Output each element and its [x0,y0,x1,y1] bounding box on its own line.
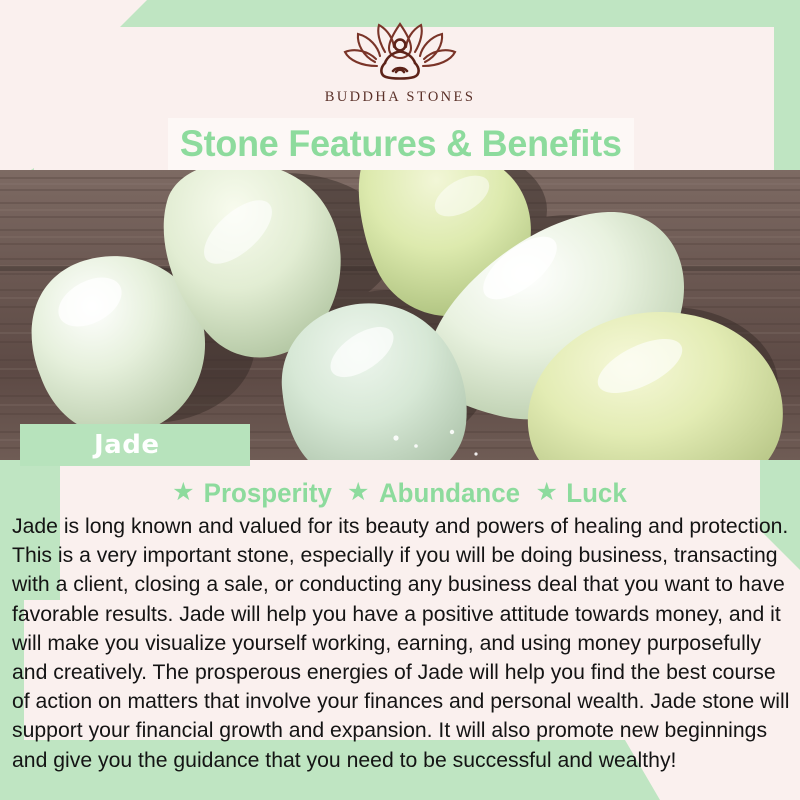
lotus-meditation-icon [341,22,459,84]
benefit-item-luck: ★ Luck [535,478,627,509]
title-banner: Stone Features & Benefits [168,118,634,170]
jade-stones-image [0,170,800,460]
star-icon: ★ [535,480,557,505]
description-text: Jade is long known and valued for its be… [12,512,792,775]
stone-info-card: BUDDHA STONES Stone Features & Benefits [0,0,800,800]
benefit-label: Luck [566,478,627,509]
benefit-item-prosperity: ★ Prosperity [172,478,335,509]
brand-name: BUDDHA STONES [325,89,476,106]
benefit-item-abundance: ★ Abundance [347,478,523,509]
stone-name-badge: Jade [20,424,250,466]
star-icon: ★ [172,480,194,505]
star-icon: ★ [347,480,369,505]
page-title: Stone Features & Benefits [180,123,622,165]
benefit-label: Prosperity [204,478,332,509]
stone-name-label: Jade [94,430,159,460]
stone-description: Jade is long known and valued for its be… [12,512,792,775]
brand-logo: BUDDHA STONES [0,22,800,106]
benefit-label: Abundance [379,478,520,509]
benefits-row: ★ Prosperity ★ Abundance ★ Luck [0,478,800,509]
stone-photo [0,170,800,460]
